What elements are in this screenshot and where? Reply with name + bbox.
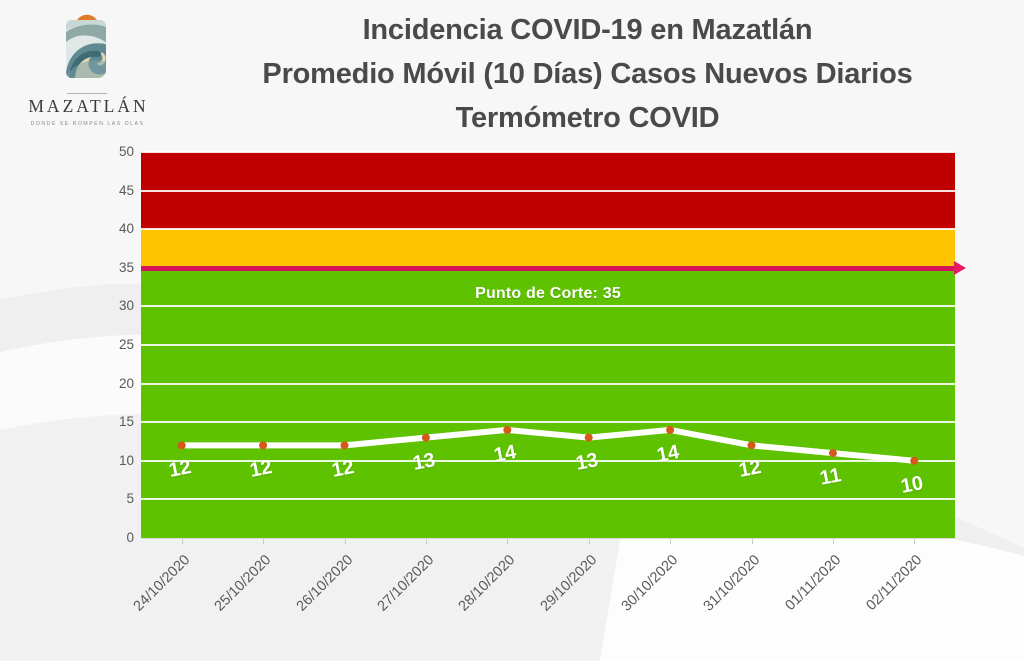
series-polyline [182,430,915,461]
data-point-marker[interactable] [666,426,674,434]
data-point-label: 12 [330,456,356,483]
y-axis: 05101520253035404550 [86,152,134,538]
x-tick-label: 28/10/2020 [437,552,519,634]
y-tick-label: 25 [88,338,134,352]
logo-tagline: DONDE SE ROMPEN LAS OLAS [22,121,152,127]
data-point-label: 11 [818,464,843,491]
x-tick-label: 25/10/2020 [192,552,274,634]
plot-area: Punto de Corte: 3512121213141314121110 [141,152,955,538]
x-tick-label: 02/11/2020 [844,552,926,634]
data-point-marker[interactable] [910,457,918,465]
x-axis-line [141,538,955,539]
y-tick-label: 15 [88,415,134,429]
data-point-label: 10 [899,472,925,499]
data-point-marker[interactable] [422,434,430,442]
x-tick-label: 29/10/2020 [518,552,600,634]
y-tick-label: 0 [88,531,134,545]
data-point-marker[interactable] [178,441,186,449]
data-point-label: 13 [411,449,437,476]
logo-wordmark: MAZATLÁN [22,98,152,116]
data-point-label: 12 [167,456,193,483]
data-point-marker[interactable] [748,441,756,449]
chart-title-line-1: Incidencia COVID-19 en Mazatlán [160,8,1015,52]
x-tick-label: 27/10/2020 [355,552,437,634]
mazatlan-shell-logo-icon [52,2,122,90]
y-tick-label: 5 [88,492,134,506]
y-tick-label: 45 [88,184,134,198]
data-point-marker[interactable] [503,426,511,434]
y-tick-label: 40 [88,222,134,236]
data-point-label: 14 [655,441,681,468]
data-point-marker[interactable] [829,449,837,457]
data-point-marker[interactable] [585,434,593,442]
chart-title-line-3: Termómetro COVID [160,96,1015,140]
x-tick-label: 01/11/2020 [762,552,844,634]
logo-block: MAZATLÁN DONDE SE ROMPEN LAS OLAS [22,2,152,127]
x-tick-label: 31/10/2020 [681,552,763,634]
x-tick-label: 24/10/2020 [111,552,193,634]
data-point-label: 14 [492,441,518,468]
logo-divider [67,93,107,94]
chart-title: Incidencia COVID-19 en Mazatlán Promedio… [160,8,1015,140]
x-tick-label: 30/10/2020 [599,552,681,634]
y-tick-label: 20 [88,377,134,391]
cut-off-label: Punto de Corte: 35 [141,285,955,303]
data-point-label: 12 [248,456,274,483]
cut-off-arrow-icon [954,261,966,275]
cut-off-line [141,266,955,271]
data-point-marker[interactable] [341,441,349,449]
y-tick-label: 35 [88,261,134,275]
data-point-label: 13 [574,449,600,476]
y-tick-label: 10 [88,454,134,468]
data-point-label: 12 [737,456,763,483]
data-point-marker[interactable] [259,441,267,449]
x-tick-label: 26/10/2020 [274,552,356,634]
header: MAZATLÁN DONDE SE ROMPEN LAS OLAS Incide… [0,0,1024,148]
chart-title-line-2: Promedio Móvil (10 Días) Casos Nuevos Di… [160,52,1015,96]
y-tick-label: 30 [88,299,134,313]
